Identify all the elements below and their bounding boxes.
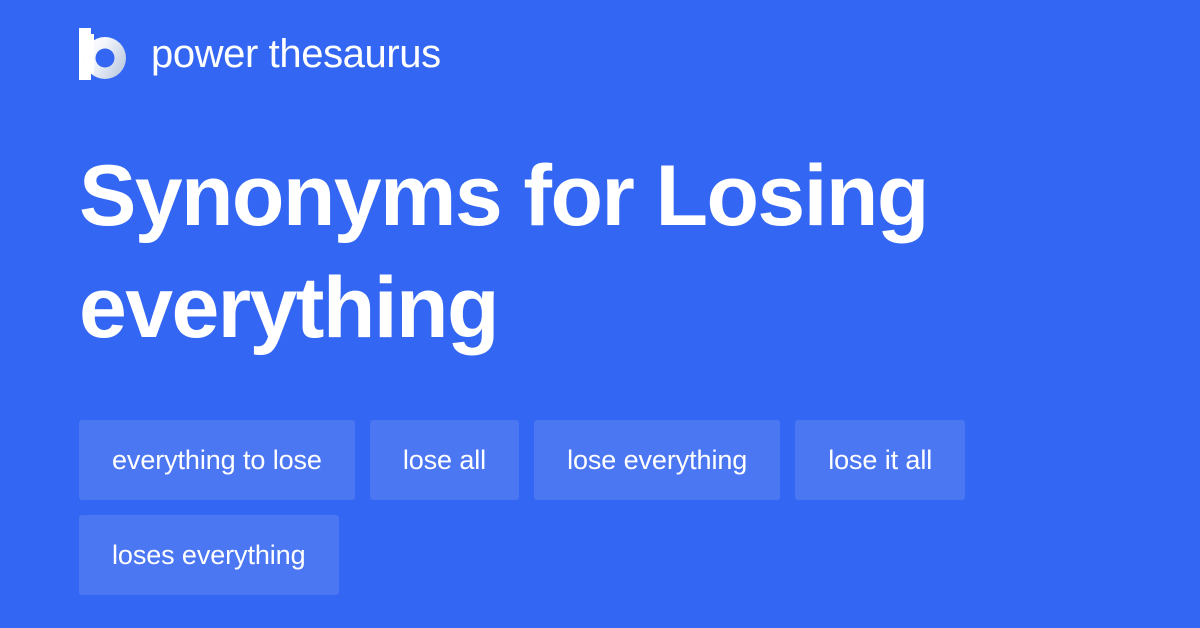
page-title-line-1: Synonyms for Losing <box>79 140 1079 252</box>
synonym-chip[interactable]: everything to lose <box>79 420 355 500</box>
page-title-line-2: everything <box>79 252 1079 364</box>
synonym-chip-list: everything to lose lose all lose everyth… <box>79 420 1119 595</box>
brand-header[interactable]: power thesaurus <box>79 28 441 80</box>
page-title: Synonyms for Losing everything <box>79 140 1079 364</box>
brand-name: power thesaurus <box>151 34 441 74</box>
synonym-chip[interactable]: lose all <box>370 420 519 500</box>
synonym-chip[interactable]: loses everything <box>79 515 339 595</box>
synonym-chip[interactable]: lose everything <box>534 420 780 500</box>
power-thesaurus-logo-icon <box>79 28 129 80</box>
synonym-chip[interactable]: lose it all <box>795 420 965 500</box>
